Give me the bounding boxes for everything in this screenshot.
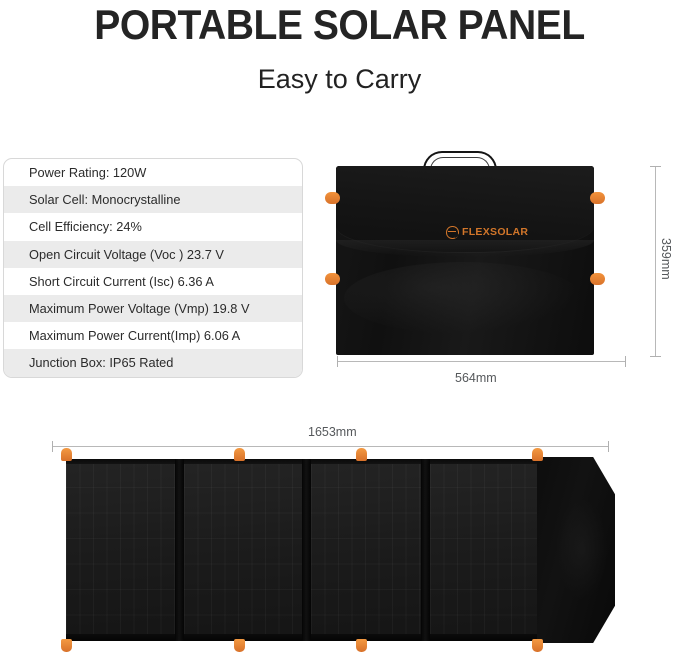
bag-width-dimension-cap-left — [337, 356, 338, 367]
panel-segment — [66, 459, 175, 641]
spec-row: Maximum Power Current(Imp) 6.06 A — [4, 322, 302, 349]
panel-grommet-tab — [61, 639, 72, 652]
panel-grommet-tab — [356, 639, 367, 652]
bag-corner-tab — [325, 192, 340, 204]
brand-logo: FLEXSOLAR — [446, 226, 528, 239]
panel-segment — [184, 459, 302, 641]
panel-grommet-tab — [234, 448, 245, 461]
unfolded-panel-image — [52, 459, 618, 654]
bag-height-dimension-line — [655, 166, 656, 356]
panel-width-dimension-line — [52, 446, 608, 447]
bag-flap-seam — [336, 240, 594, 257]
bag-width-dimension-cap-right — [625, 356, 626, 367]
spec-row: Power Rating: 120W — [4, 159, 302, 186]
panel-width-dimension-cap-left — [52, 441, 53, 452]
bag-width-dimension-line — [337, 361, 625, 362]
specifications-card: Power Rating: 120W Solar Cell: Monocryst… — [3, 158, 303, 378]
panel-grommet-tab — [234, 639, 245, 652]
bag-width-dimension-label: 564mm — [455, 371, 497, 385]
panel-width-dimension-label: 1653mm — [308, 425, 357, 439]
product-infographic: PORTABLE SOLAR PANEL Easy to Carry Power… — [0, 0, 679, 665]
bag-body: FLEXSOLAR — [336, 166, 594, 355]
spec-row: Junction Box: IP65 Rated — [4, 349, 302, 376]
brand-logo-text: FLEXSOLAR — [462, 227, 528, 238]
spec-row: Cell Efficiency: 24% — [4, 213, 302, 240]
panel-fold-seam — [421, 459, 430, 641]
panel-segment — [430, 459, 540, 641]
spec-row: Short Circuit Current (Isc) 6.36 A — [4, 268, 302, 295]
bag-corner-tab — [325, 273, 340, 285]
bag-corner-tab — [590, 273, 605, 285]
panel-grommet-tab — [356, 448, 367, 461]
panel-segment — [311, 459, 421, 641]
folded-bag-image: FLEXSOLAR — [336, 151, 626, 355]
flexsolar-circle-e-icon — [446, 226, 459, 239]
panel-fold-seam — [175, 459, 184, 641]
page-title: PORTABLE SOLAR PANEL — [24, 2, 655, 48]
bag-height-dimension-label: 359mm — [659, 238, 673, 280]
bag-highlight — [344, 262, 582, 334]
spec-row: Maximum Power Voltage (Vmp) 19.8 V — [4, 295, 302, 322]
spec-row: Solar Cell: Monocrystalline — [4, 186, 302, 213]
bag-corner-tab — [590, 192, 605, 204]
page-subtitle: Easy to Carry — [0, 63, 679, 95]
panel-grommet-tab — [532, 639, 543, 652]
bag-height-dimension-cap-top — [650, 166, 661, 167]
panel-grommet-tab — [61, 448, 72, 461]
panel-cover-flap-highlight — [557, 499, 607, 599]
bag-height-dimension-cap-bottom — [650, 356, 661, 357]
panel-width-dimension-cap-right — [608, 441, 609, 452]
panel-fold-seam — [302, 459, 311, 641]
panel-grommet-tab — [532, 448, 543, 461]
spec-row: Open Circuit Voltage (Voc ) 23.7 V — [4, 241, 302, 268]
